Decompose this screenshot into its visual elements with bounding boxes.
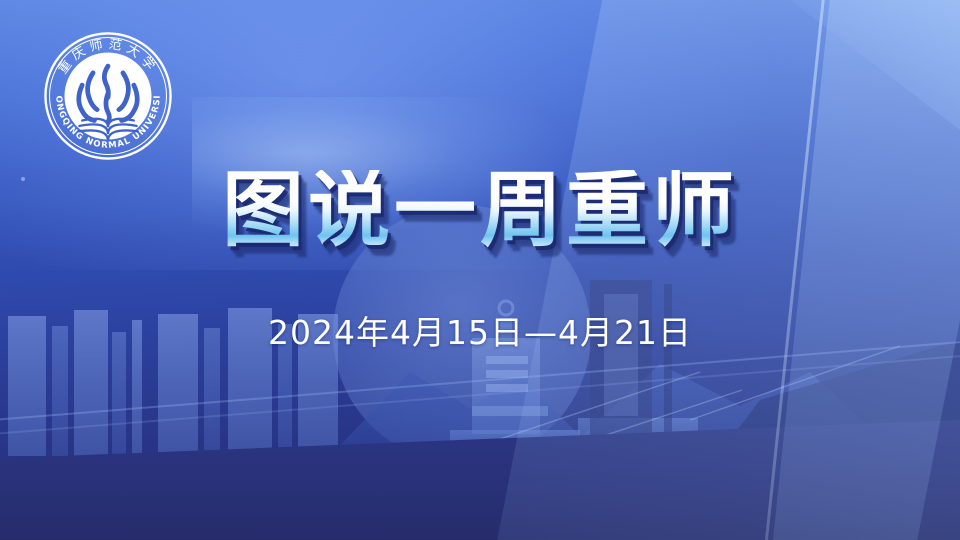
- page-title: 图说一周重师: [222, 170, 738, 252]
- date-range-label: 2024年4月15日—4月21日: [0, 306, 960, 354]
- title-container: 图说一周重师: [0, 170, 960, 252]
- slide-root: 重庆师范大学 CHONGQING NORMAL UNIVERSITY 图说一周重…: [0, 0, 960, 540]
- university-logo-icon: 重庆师范大学 CHONGQING NORMAL UNIVERSITY: [40, 28, 176, 164]
